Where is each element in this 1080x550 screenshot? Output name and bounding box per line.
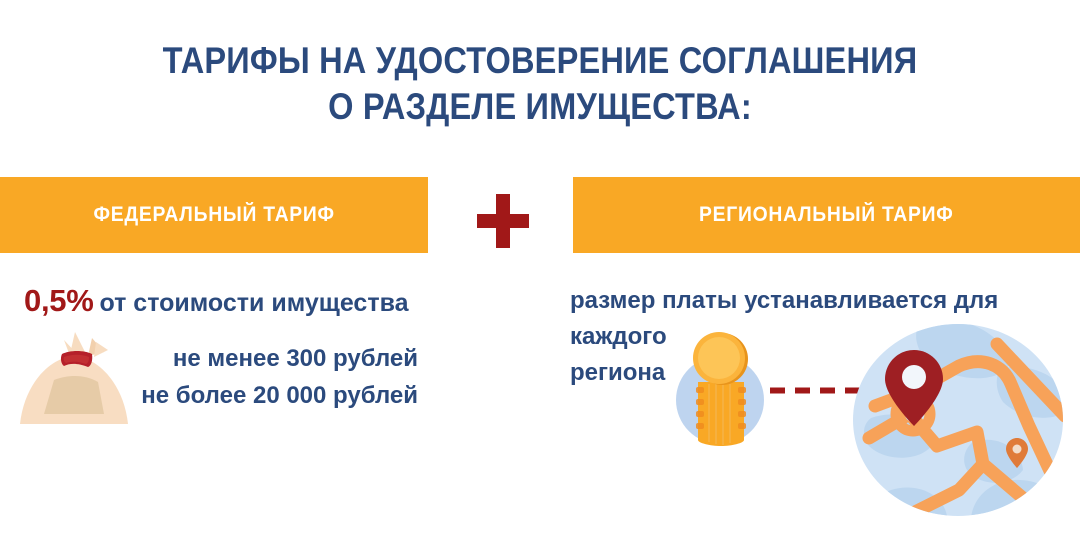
federal-percent-caption: от стоимости имущества — [99, 289, 408, 317]
federal-tariff-banner: ФЕДЕРАЛЬНЫЙ ТАРИФ — [0, 177, 428, 253]
title-line-2: О РАЗДЕЛЕ ИМУЩЕСТВА: — [65, 84, 1015, 130]
map-circle-icon — [851, 322, 1065, 518]
title-line-1: ТАРИФЫ НА УДОСТОВЕРЕНИЕ СОГЛАШЕНИЯ — [65, 38, 1015, 84]
plus-icon-horizontal-bar — [477, 214, 529, 228]
page-title: ТАРИФЫ НА УДОСТОВЕРЕНИЕ СОГЛАШЕНИЯ О РАЗ… — [0, 38, 1080, 130]
regional-tariff-banner: РЕГИОНАЛЬНЫЙ ТАРИФ — [573, 177, 1080, 253]
plus-icon — [477, 194, 529, 248]
money-bag-icon — [18, 328, 130, 424]
federal-tariff-banner-label: ФЕДЕРАЛЬНЫЙ ТАРИФ — [93, 203, 334, 227]
infographic-canvas: ТАРИФЫ НА УДОСТОВЕРЕНИЕ СОГЛАШЕНИЯ О РАЗ… — [0, 0, 1080, 550]
coin-stack-icon — [668, 330, 774, 448]
regional-tariff-banner-label: РЕГИОНАЛЬНЫЙ ТАРИФ — [699, 203, 953, 227]
federal-percent-value: 0,5% — [24, 283, 93, 318]
federal-headline: 0,5%от стоимости имущества — [24, 283, 409, 319]
